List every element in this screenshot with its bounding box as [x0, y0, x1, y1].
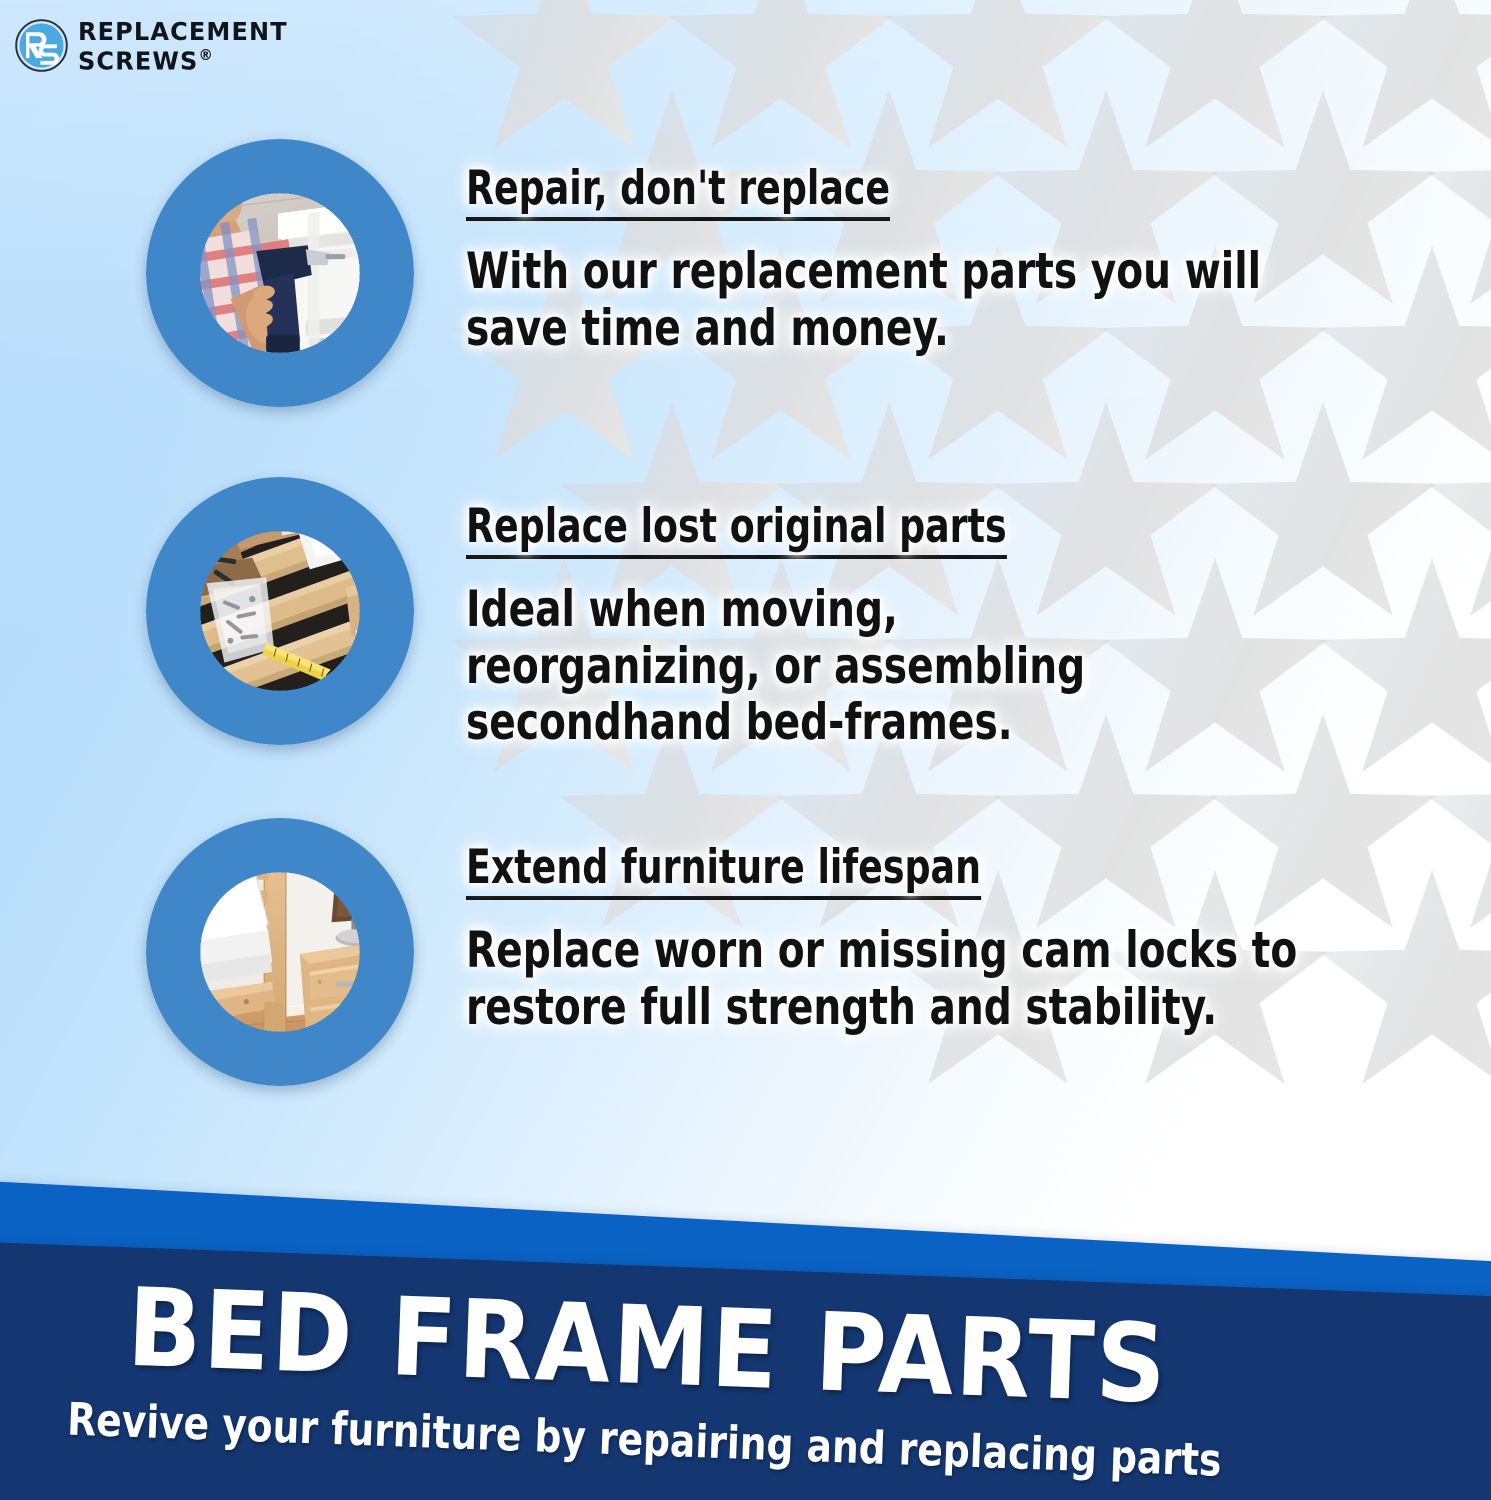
bottom-banner: BED FRAME PARTS Revive your furniture by…: [0, 1120, 1491, 1500]
infographic-canvas: REPLACEMENT SCREWS®: [0, 0, 1491, 1500]
feature-thumbnail: [146, 818, 414, 1086]
feature-heading: Repair, don't replace: [466, 165, 890, 221]
feature-text: Repair, don't replace With our replaceme…: [466, 139, 1491, 356]
feature-item: Replace lost original parts Ideal when m…: [146, 477, 1178, 751]
thumbnail-ring: [146, 477, 414, 745]
thumbnail-ring: [146, 818, 414, 1086]
feature-item: Extend furniture lifespan Replace worn o…: [146, 818, 1491, 1086]
feature-heading: Replace lost original parts: [466, 503, 1007, 559]
feature-item: Repair, don't replace With our replaceme…: [146, 139, 1491, 407]
feature-text: Replace lost original parts Ideal when m…: [466, 477, 1178, 751]
thumbnail-ring: [146, 139, 414, 407]
brand-wordmark: REPLACEMENT SCREWS®: [78, 17, 297, 73]
registered-trademark-icon: ®: [198, 46, 212, 64]
brand-name-line-2: SCREWS®: [78, 48, 288, 73]
feature-body: With our replacement parts you will save…: [466, 243, 1358, 356]
feature-body: Replace worn or missing cam locks to res…: [466, 922, 1358, 1035]
rs-badge-icon: [14, 18, 69, 73]
feature-body: Ideal when moving, reorganizing, or asse…: [466, 581, 1085, 751]
feature-thumbnail: [146, 477, 414, 745]
feature-heading: Extend furniture lifespan: [466, 844, 981, 900]
brand-name-line-1: REPLACEMENT: [78, 19, 288, 44]
feature-text: Extend furniture lifespan Replace worn o…: [466, 818, 1491, 1035]
brand-logo[interactable]: REPLACEMENT SCREWS®: [14, 17, 297, 73]
feature-thumbnail: [146, 139, 414, 407]
